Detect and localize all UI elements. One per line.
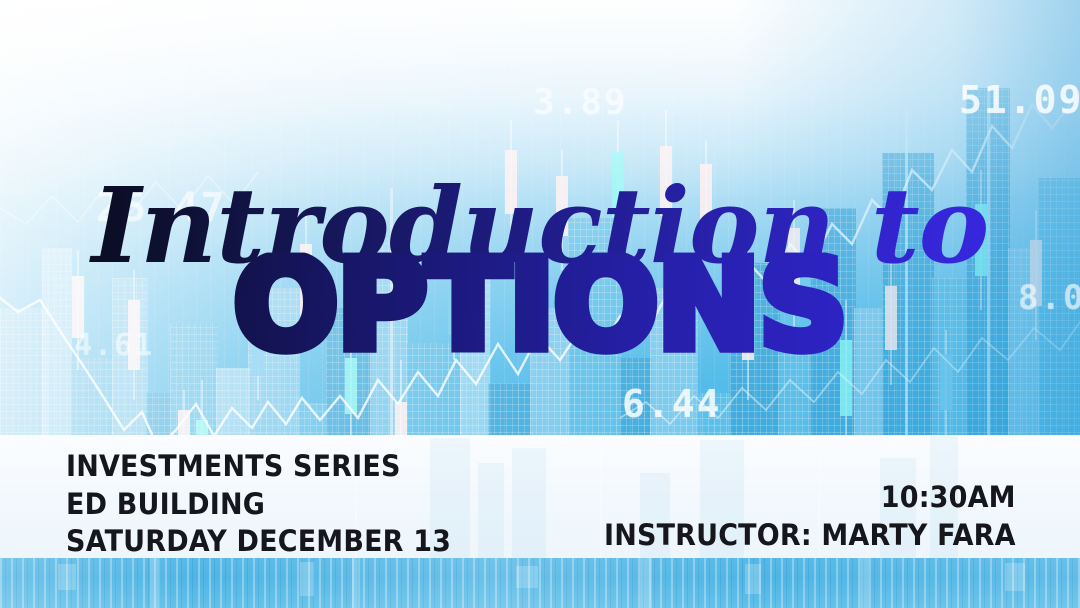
bottom-blue-band — [0, 558, 1080, 608]
ticker-number: 51.09 — [959, 78, 1080, 122]
ticker-number: 3.89 — [533, 82, 628, 123]
event-info-right-block: 10:30AM INSTRUCTOR: MARTY FARA — [573, 479, 1016, 554]
ticker-number: 8.04 — [1018, 278, 1080, 318]
band-glow-overlay — [0, 558, 1080, 608]
info-location-line: ED BUILDING — [66, 486, 451, 524]
event-poster: 25.47 3.89 51.09 4.61 8.04 6.44 6.91 4.8… — [0, 0, 1080, 608]
ticker-number: 25.47 — [96, 185, 226, 231]
event-info-panel: INVESTMENTS SERIES ED BUILDING SATURDAY … — [0, 435, 1080, 558]
ticker-number: 6.44 — [622, 382, 722, 426]
info-date-line: SATURDAY DECEMBER 13 — [66, 523, 451, 558]
info-instructor-line: INSTRUCTOR: MARTY FARA — [604, 517, 1016, 555]
event-info-left-block: INVESTMENTS SERIES ED BUILDING SATURDAY … — [66, 448, 480, 558]
info-series-line: INVESTMENTS SERIES — [66, 448, 451, 486]
info-time-line: 10:30AM — [604, 479, 1016, 517]
ticker-number: 4.61 — [74, 328, 154, 363]
